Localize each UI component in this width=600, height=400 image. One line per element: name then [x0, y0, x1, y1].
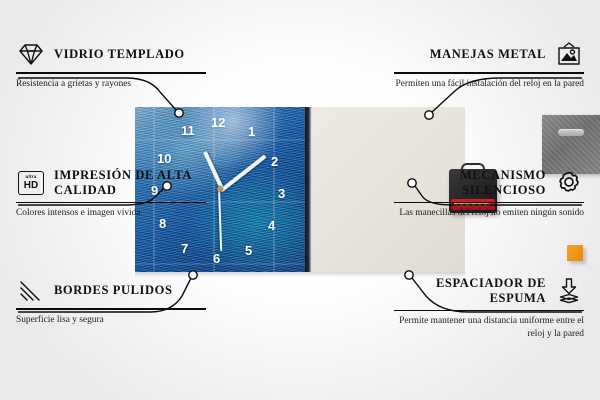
- feature-title: MANEJAS METAL: [394, 47, 546, 62]
- feature-head: ESPACIADOR DE ESPUMA: [394, 276, 584, 306]
- feature-head: VIDRIO TEMPLADO: [16, 40, 206, 68]
- clock-numeral-10: 10: [157, 152, 171, 165]
- feature-mecanismo-silencioso: MECANISMO SILENCIOSO Las manecillas del …: [394, 168, 584, 220]
- clock-numeral-7: 7: [181, 242, 188, 255]
- feature-head: BORDES PULIDOS: [16, 276, 206, 304]
- diamond-icon: [16, 40, 46, 68]
- feature-title: IMPRESIÓN DE ALTA CALIDAD: [54, 168, 206, 198]
- feature-desc: Las manecillas del reloj no emiten ningú…: [394, 207, 584, 220]
- clock-edge-shadow: [305, 107, 312, 272]
- hd-badge-bottom: HD: [24, 181, 38, 191]
- feature-espaciador-espuma: ESPACIADOR DE ESPUMA Permite mantener un…: [394, 276, 584, 340]
- feature-impresion-alta-calidad: ultra HD IMPRESIÓN DE ALTA CALIDAD Color…: [16, 168, 206, 220]
- clock-hour-hand: [203, 151, 224, 189]
- clock-numeral-2: 2: [271, 155, 278, 168]
- feature-title: MECANISMO SILENCIOSO: [394, 168, 546, 198]
- feature-manejas-metal: MANEJAS METAL Permiten una fácil instala…: [394, 40, 584, 90]
- infographic-stage: 12 1 2 3 4 5 6 7 8 9 10 11: [0, 0, 600, 400]
- orange-foam-spacer: [567, 245, 583, 261]
- feature-desc: Colores intensos e imagen vívida: [16, 207, 206, 220]
- feature-desc: Permiten una fácil instalación del reloj…: [394, 78, 584, 91]
- feature-head: MECANISMO SILENCIOSO: [394, 168, 584, 198]
- gear-icon: [554, 169, 584, 197]
- clock-numeral-3: 3: [278, 187, 285, 200]
- clock-numeral-11: 11: [181, 124, 195, 137]
- clock-numeral-12: 12: [211, 116, 225, 129]
- ultra-hd-icon: ultra HD: [16, 169, 46, 197]
- feature-vidrio-templado: VIDRIO TEMPLADO Resistencia a grietas y …: [16, 40, 206, 90]
- feature-head: ultra HD IMPRESIÓN DE ALTA CALIDAD: [16, 168, 206, 198]
- clock-numeral-1: 1: [248, 125, 255, 138]
- feature-rule: [394, 310, 584, 312]
- feature-desc: Superficie lisa y segura: [16, 314, 206, 327]
- feature-rule: [394, 72, 584, 74]
- wall-mount-picture-icon: [554, 40, 584, 68]
- feature-rule: [16, 72, 206, 74]
- polished-edges-icon: [16, 276, 46, 304]
- clock-center-hub: [217, 186, 223, 192]
- feature-title: ESPACIADOR DE ESPUMA: [394, 276, 546, 306]
- hanger-slot: [558, 129, 584, 136]
- feature-title: VIDRIO TEMPLADO: [54, 47, 206, 62]
- feature-rule: [16, 202, 206, 204]
- clock-numeral-4: 4: [268, 219, 275, 232]
- feature-head: MANEJAS METAL: [394, 40, 584, 68]
- feature-rule: [394, 202, 584, 204]
- hd-badge: ultra HD: [18, 171, 44, 195]
- feature-desc: Resistencia a grietas y rayones: [16, 78, 206, 91]
- clock-second-hand: [218, 189, 222, 251]
- clock-numeral-6: 6: [213, 252, 220, 265]
- metal-hanger-plate: [542, 115, 600, 174]
- hd-badge-top: ultra: [26, 175, 37, 180]
- feature-rule: [16, 308, 206, 310]
- foam-spacer-arrow-icon: [554, 277, 584, 305]
- clock-numeral-5: 5: [245, 244, 252, 257]
- clock-minute-hand: [220, 155, 267, 193]
- feature-desc: Permite mantener una distancia uniforme …: [394, 315, 584, 340]
- feature-title: BORDES PULIDOS: [54, 283, 206, 298]
- feature-bordes-pulidos: BORDES PULIDOS Superficie lisa y segura: [16, 276, 206, 326]
